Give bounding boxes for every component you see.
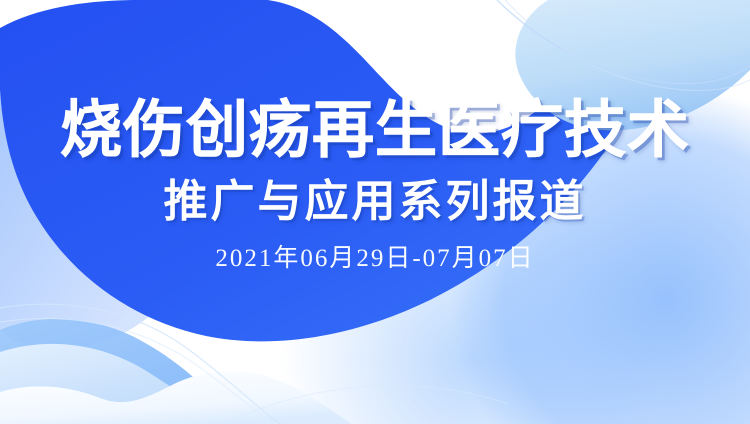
banner-content: 烧伤创疡再生医疗技术 推广与应用系列报道 2021年06月29日-07月07日 bbox=[0, 0, 750, 424]
page-title: 烧伤创疡再生医疗技术 bbox=[60, 100, 690, 162]
page-subtitle: 推广与应用系列报道 bbox=[164, 180, 587, 224]
date-range-label: 2021年06月29日-07月07日 bbox=[215, 246, 534, 271]
promo-banner: 烧伤创疡再生医疗技术 推广与应用系列报道 2021年06月29日-07月07日 bbox=[0, 0, 750, 424]
